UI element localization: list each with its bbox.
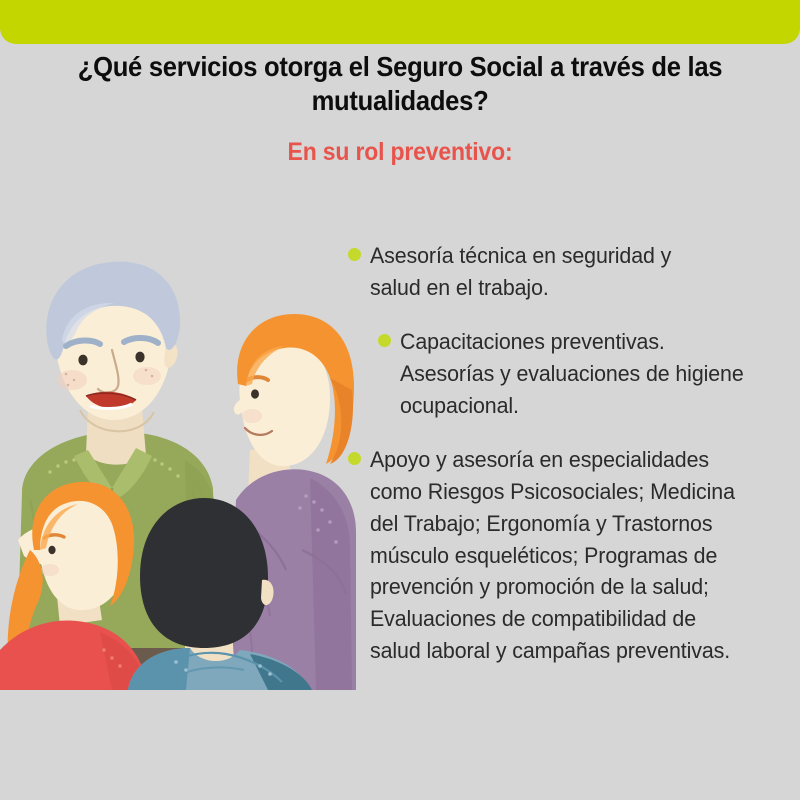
infographic-poster: ¿Qué servicios otorga el Seguro Social a… [0, 0, 800, 800]
bullet-list: Asesoría técnica en seguridad y salud en… [348, 240, 786, 689]
header-green-bar [0, 0, 800, 44]
bullet-dot-icon [348, 452, 361, 465]
bullet-text: Apoyo y asesoría en especialidades como … [370, 444, 765, 668]
bullet-text: Asesoría técnica en seguridad y salud en… [370, 240, 765, 304]
bullet-dot-icon [348, 248, 361, 261]
page-title: ¿Qué servicios otorga el Seguro Social a… [75, 50, 726, 117]
bullet-capacitaciones: Capacitaciones preventivas. Asesorías y … [378, 326, 786, 422]
bullet-dot-icon [378, 334, 391, 347]
bullet-asesoria-tecnica: Asesoría técnica en seguridad y salud en… [348, 240, 786, 304]
bullet-text: Capacitaciones preventivas. Asesorías y … [400, 326, 767, 422]
family-group-illustration [0, 250, 356, 690]
bullet-apoyo-especialidades: Apoyo y asesoría en especialidades como … [348, 444, 786, 668]
page-subtitle: En su rol preventivo: [78, 138, 722, 167]
